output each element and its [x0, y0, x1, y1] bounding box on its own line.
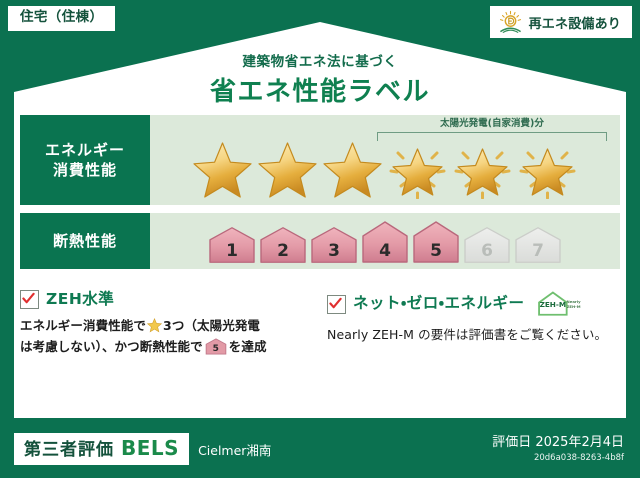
- footer-bar: 第三者評価 BELS Cielmer湘南 評価日 2025年2月4日 20d6a…: [0, 420, 640, 478]
- nzeb-description: Nearly ZEH-M の要件は評価書をご覧ください。: [327, 325, 620, 346]
- grade-value: 2: [259, 243, 307, 260]
- criteria-zeh: ZEH水準 エネルギー消費性能で3つ（太陽光発電 は考慮しない）、かつ断熱性能で…: [20, 290, 313, 357]
- star-filled: [256, 139, 319, 199]
- star-filled: [191, 139, 254, 199]
- energy-performance-label: エネルギー 消費性能: [20, 115, 150, 205]
- insulation-rating-panel: 1234567: [150, 213, 620, 269]
- label-title-block: 建築物省エネ法に基づく 省エネ性能ラベル: [0, 56, 640, 105]
- title-subtitle: 建築物省エネ法に基づく: [0, 56, 640, 70]
- evaluation-info: 評価日 2025年2月4日 20d6a038-8263-4b8f: [492, 435, 624, 462]
- svg-text:ZEH-M: ZEH-M: [539, 300, 566, 309]
- zeh-text-2: は考慮しない）、かつ断熱性能で: [20, 339, 203, 354]
- inline-star-icon: [147, 318, 162, 333]
- zeh-text-3: を達成: [229, 339, 267, 354]
- insulation-performance-label: 断熱性能: [20, 213, 150, 269]
- star-solar: [386, 139, 449, 199]
- renewable-equipment-badge: 再エネ設備あり: [490, 6, 632, 38]
- insulation-performance-row: 断熱性能 1234567: [20, 213, 620, 269]
- energy-rating-panel: 太陽光発電(自家消費)分: [150, 115, 620, 205]
- grade-value: 6: [463, 243, 511, 260]
- nzeb-title: ネット・ゼロ・エネルギー: [353, 296, 525, 312]
- solar-annotation: 太陽光発電(自家消費)分: [377, 119, 607, 141]
- star-solar: [516, 139, 579, 199]
- zeh-star-count: 3つ（太陽光発電: [163, 318, 260, 333]
- bels-badge: 第三者評価 BELS: [14, 433, 189, 465]
- zeh-text-1: エネルギー消費性能で: [20, 318, 146, 333]
- grade-badge-active: 4: [361, 220, 409, 264]
- zeh-description: エネルギー消費性能で3つ（太陽光発電 は考慮しない）、かつ断熱性能で5を達成: [20, 316, 313, 357]
- check-icon: [22, 292, 35, 305]
- renewable-badge-label: 再エネ設備あり: [529, 13, 621, 32]
- grade-badge-active: 1: [208, 226, 256, 264]
- bels-en-label: BELS: [121, 438, 179, 458]
- star-icon: [321, 139, 384, 199]
- title-main: 省エネ性能ラベル: [0, 79, 640, 105]
- zeh-title: ZEH水準: [46, 292, 114, 308]
- star-solar-icon: [451, 139, 514, 199]
- bels-jp-label: 第三者評価: [24, 442, 114, 459]
- evaluation-id: 20d6a038-8263-4b8f: [492, 453, 624, 463]
- grade-badge-active: 2: [259, 226, 307, 264]
- energy-performance-row: エネルギー 消費性能 太陽光発電(自家消費)分: [20, 115, 620, 205]
- grade-value: 4: [361, 243, 409, 260]
- grade-scale: 1234567: [208, 220, 562, 269]
- building-type-label: 住宅（住棟）: [20, 9, 103, 25]
- owner-name: Cielmer湘南: [198, 440, 271, 459]
- star-rating: [191, 139, 579, 205]
- inline-grade-value: 5: [205, 345, 227, 354]
- zeh-m-logo-icon: ZEH-M Nearly ZEH-M: [536, 290, 582, 318]
- grade-badge-inactive: 7: [514, 226, 562, 264]
- insulation-label-text: 断熱性能: [53, 231, 117, 251]
- star-solar-icon: [516, 139, 579, 199]
- grade-value: 7: [514, 243, 562, 260]
- grade-badge-active: 5: [412, 220, 460, 264]
- evaluation-date: 評価日 2025年2月4日: [492, 435, 624, 451]
- energy-label-root: 住宅（住棟） 再エネ設備あり 建築物省エネ法に基づく 省エネ性能ラベル: [0, 0, 640, 478]
- sun-icon: [498, 10, 523, 34]
- grade-value: 5: [412, 243, 460, 260]
- energy-label-line2: 消費性能: [53, 160, 117, 180]
- star-solar: [451, 139, 514, 199]
- check-icon: [329, 297, 342, 310]
- building-type-tag: 住宅（住棟）: [8, 6, 115, 31]
- star-icon: [256, 139, 319, 199]
- criteria-nzeb-header: ネット・ゼロ・エネルギー ZEH-M Nearly ZEH-M: [327, 290, 620, 318]
- grade-badge-active: 3: [310, 226, 358, 264]
- star-filled: [321, 139, 384, 199]
- grade-value: 1: [208, 243, 256, 260]
- grade-badge-inactive: 6: [463, 226, 511, 264]
- inline-grade-badge: 5: [205, 338, 227, 355]
- metrics-section: エネルギー 消費性能 太陽光発電(自家消費)分 断熱性能 1234567: [20, 115, 620, 277]
- star-icon: [191, 139, 254, 199]
- svg-text:ZEH-M: ZEH-M: [566, 304, 580, 309]
- criteria-section: ZEH水準 エネルギー消費性能で3つ（太陽光発電 は考慮しない）、かつ断熱性能で…: [20, 290, 620, 357]
- zeh-checkbox[interactable]: [20, 290, 39, 309]
- solar-annotation-label: 太陽光発電(自家消費)分: [377, 119, 607, 129]
- star-solar-icon: [386, 139, 449, 199]
- energy-label-line1: エネルギー: [45, 140, 125, 160]
- nzeb-checkbox[interactable]: [327, 295, 346, 314]
- criteria-zeh-header: ZEH水準: [20, 290, 313, 309]
- criteria-nzeb: ネット・ゼロ・エネルギー ZEH-M Nearly ZEH-M Nearly Z…: [327, 290, 620, 357]
- grade-value: 3: [310, 243, 358, 260]
